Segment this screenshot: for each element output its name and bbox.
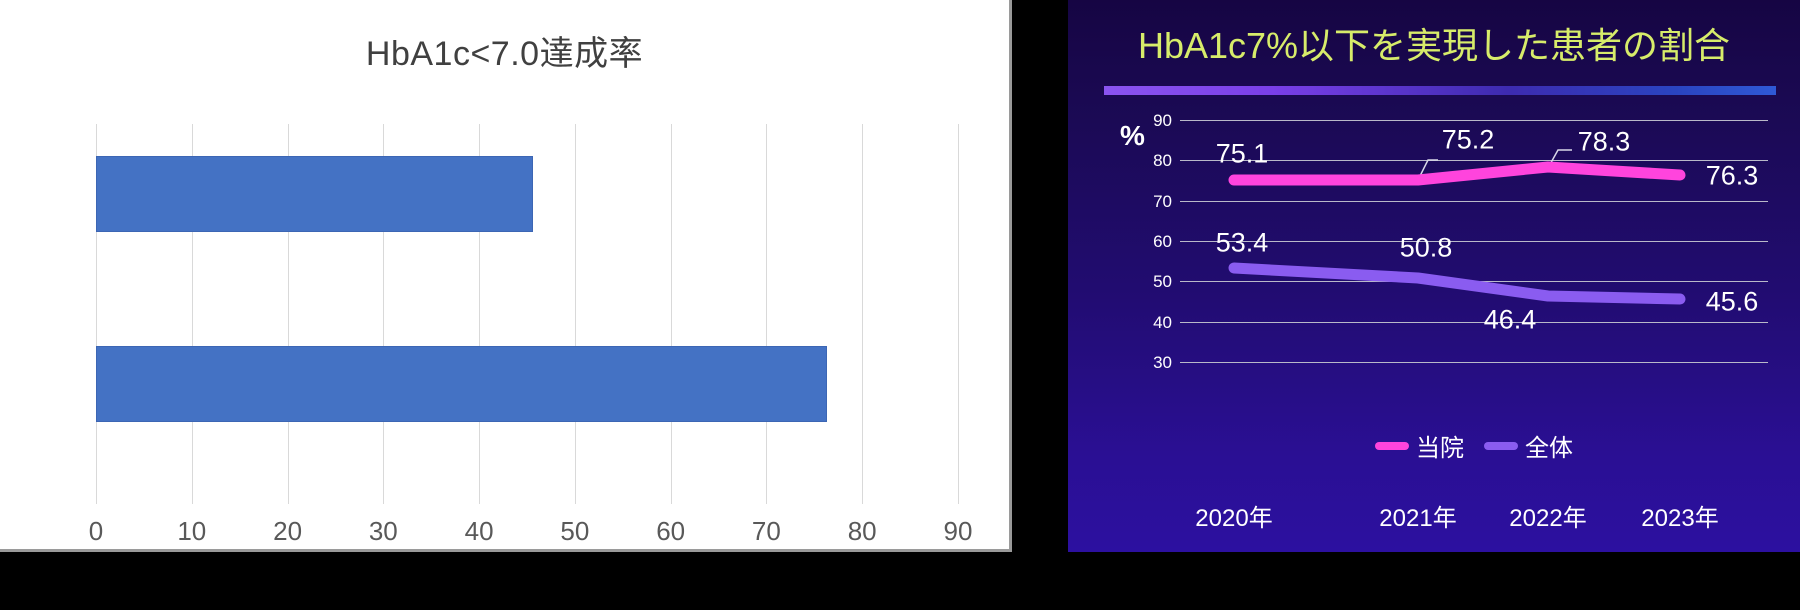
data-label-zentai-2021: 50.8 <box>1400 233 1453 264</box>
series-line-zentai <box>1234 268 1680 299</box>
x-axis-tick: 30 <box>369 516 398 547</box>
x-axis-tick: 20 <box>273 516 302 547</box>
line-chart-legend: 当院 全体 <box>1180 428 1768 463</box>
y-axis-tick: 80 <box>1126 151 1172 171</box>
slide-title: HbA1c7%以下を実現した患者の割合 <box>1068 17 1800 69</box>
gridline <box>766 124 767 504</box>
gridline <box>862 124 863 504</box>
data-label-touin-2023: 76.3 <box>1706 161 1759 192</box>
gridline <box>1180 362 1768 363</box>
y-axis-tick: 40 <box>1126 313 1172 333</box>
legend-item-zentai[interactable]: 全体 <box>1484 428 1573 463</box>
y-axis-tick: 90 <box>1126 111 1172 131</box>
bar-touin <box>96 346 827 422</box>
bar-chart-panel: HbA1c<7.0達成率 全体 当院 0 10 20 30 40 50 60 7… <box>0 0 1012 552</box>
gridline <box>958 124 959 504</box>
legend-item-touin[interactable]: 当院 <box>1375 428 1464 463</box>
x-axis-tick: 10 <box>177 516 206 547</box>
data-label-touin-2021: 75.2 <box>1442 125 1495 156</box>
line-chart-plot-area: 90 80 70 60 50 40 30 75.1 75.2 78.3 76.3… <box>1180 120 1768 362</box>
x-axis-tick: 60 <box>656 516 685 547</box>
data-label-zentai-2023: 45.6 <box>1706 287 1759 318</box>
x-axis-tick: 50 <box>560 516 589 547</box>
series-line-touin <box>1234 167 1680 180</box>
x-axis-tick: 90 <box>944 516 973 547</box>
x-axis-tick: 80 <box>848 516 877 547</box>
y-axis-tick: 30 <box>1126 353 1172 373</box>
data-label-touin-2022: 78.3 <box>1578 127 1631 158</box>
y-axis-tick: 50 <box>1126 272 1172 292</box>
x-axis-tick: 0 <box>89 516 103 547</box>
data-label-zentai-2022: 46.4 <box>1484 305 1537 336</box>
x-axis-tick: 40 <box>465 516 494 547</box>
title-accent-bar <box>1104 86 1776 95</box>
x-axis-tick: 2021年 <box>1379 498 1456 533</box>
y-axis-tick: 70 <box>1126 192 1172 212</box>
bar-chart-title: HbA1c<7.0達成率 <box>0 26 1009 75</box>
gridline <box>671 124 672 504</box>
y-axis-tick: 60 <box>1126 232 1172 252</box>
legend-label-touin: 当院 <box>1416 428 1464 463</box>
bar-chart-plot-area: 0 10 20 30 40 50 60 70 80 90 <box>96 124 958 504</box>
x-axis-tick: 2020年 <box>1195 498 1272 533</box>
gridline <box>575 124 576 504</box>
legend-label-zentai: 全体 <box>1525 428 1573 463</box>
bar-zentai <box>96 156 533 232</box>
x-axis-tick: 2023年 <box>1641 498 1718 533</box>
data-label-zentai-2020: 53.4 <box>1216 228 1269 259</box>
data-label-touin-2020: 75.1 <box>1216 139 1269 170</box>
x-axis-tick: 2022年 <box>1509 498 1586 533</box>
line-chart-slide-panel: HbA1c7%以下を実現した患者の割合 % 90 80 70 60 50 40 … <box>1068 0 1800 552</box>
x-axis-tick: 70 <box>752 516 781 547</box>
legend-swatch-zentai <box>1484 442 1518 450</box>
legend-swatch-touin <box>1375 442 1409 450</box>
